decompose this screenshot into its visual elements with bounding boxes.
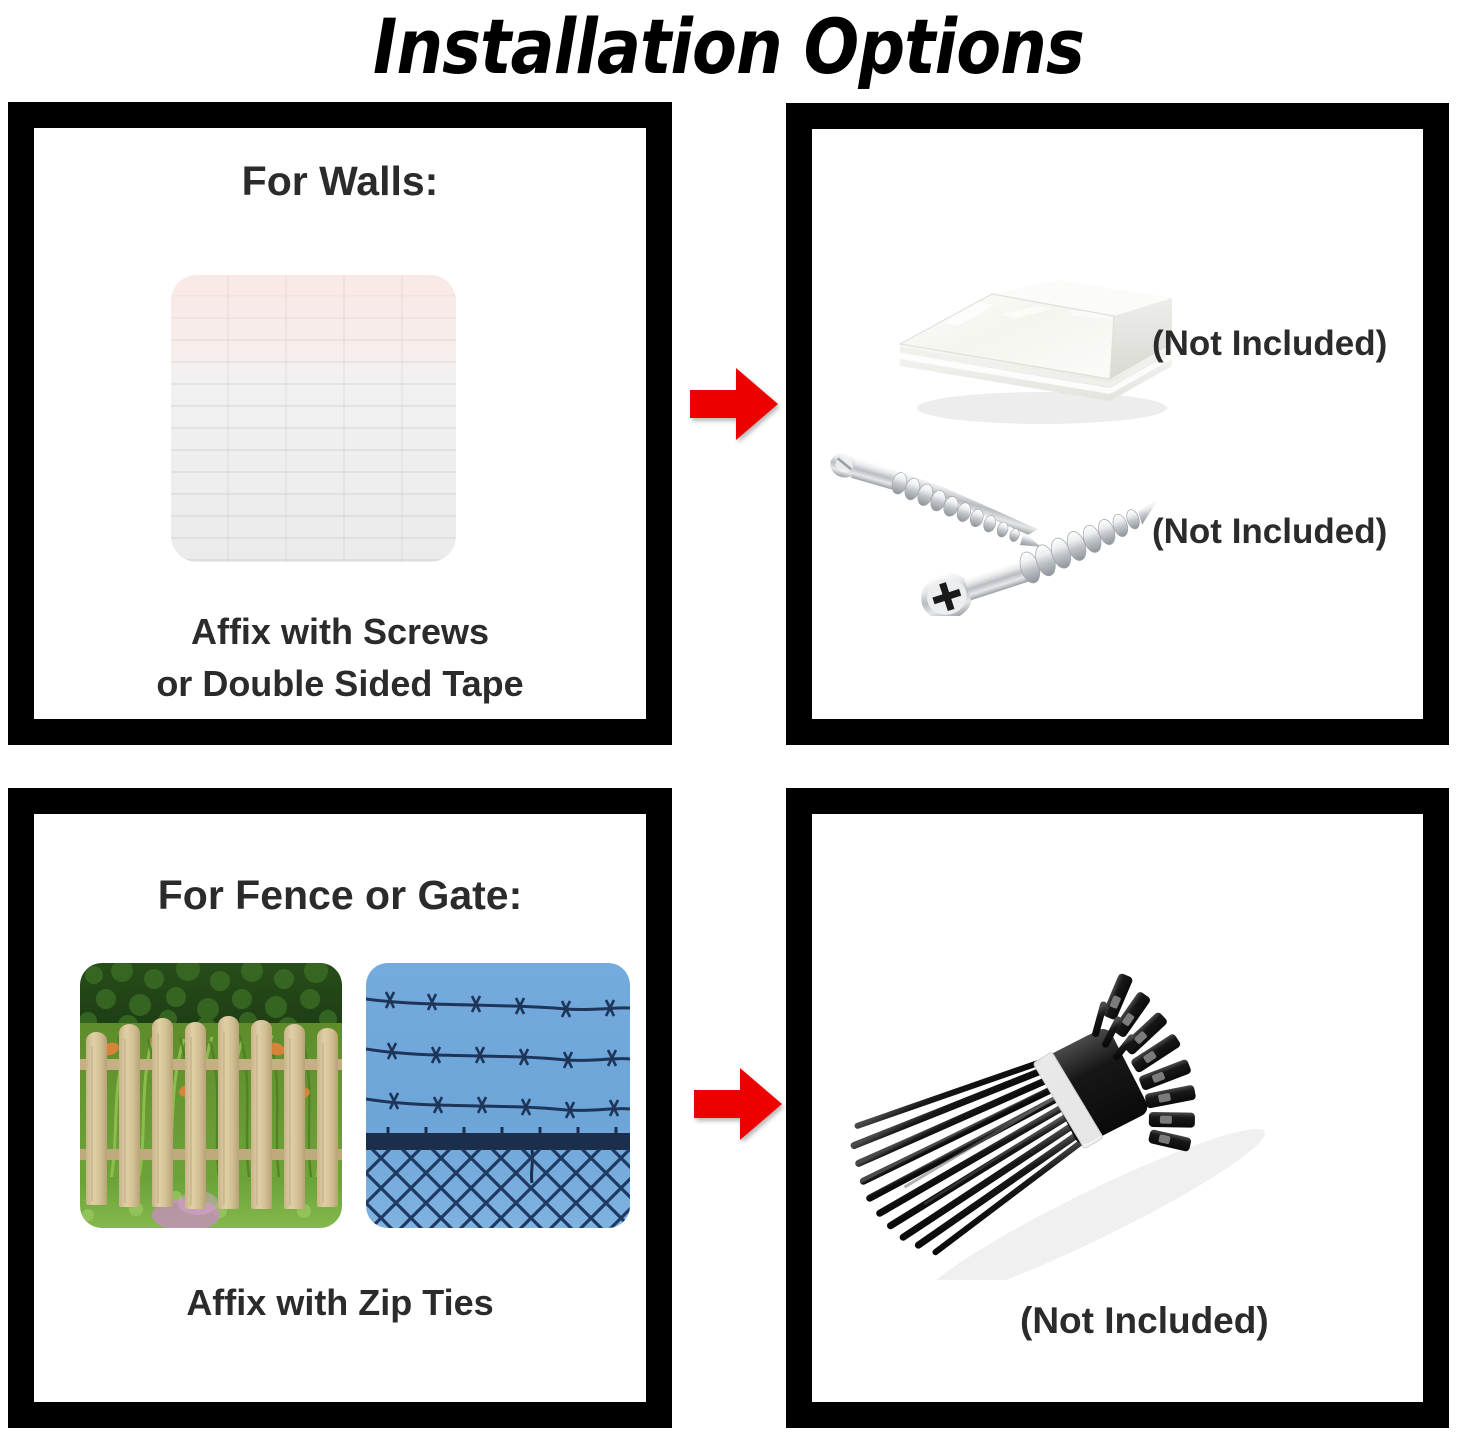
panel-for-walls-content: For Walls: Affix with Screws or Double S… xyxy=(34,128,646,719)
chain-link-fence-barbed-wire-photo xyxy=(366,963,630,1228)
brick-tint-overlay xyxy=(171,275,456,378)
black-zip-tie-bundle xyxy=(844,915,1314,1280)
panel-for-walls-caption-line1: Affix with Screws xyxy=(34,606,646,658)
zip-ties-not-included-note: (Not Included) xyxy=(1020,1300,1269,1342)
page-title: Installation Options xyxy=(102,0,1355,92)
panel-for-walls-caption-line2: or Double Sided Tape xyxy=(34,658,646,710)
panel-zip-ties: (Not Included) xyxy=(786,788,1449,1428)
panel-for-fence-heading: For Fence or Gate: xyxy=(34,872,646,919)
double-sided-tape-stack xyxy=(882,258,1177,428)
red-arrow-right-icon xyxy=(688,363,780,445)
panel-wall-hardware: (Not Included) xyxy=(786,103,1449,745)
wood-screws-pair xyxy=(828,436,1158,616)
wooden-picket-fence-photo xyxy=(80,963,342,1228)
panel-for-fence-or-gate: For Fence or Gate: xyxy=(8,788,672,1428)
panel-for-walls: For Walls: Affix with Screws or Double S… xyxy=(8,102,672,745)
tape-not-included-note: (Not Included) xyxy=(1152,324,1387,364)
panel-wall-hardware-content: (Not Included) xyxy=(812,129,1423,719)
white-brick-wall-swatch xyxy=(171,275,456,562)
red-arrow-right-icon-2 xyxy=(692,1063,784,1145)
panel-for-fence-or-gate-content: For Fence or Gate: xyxy=(34,814,646,1402)
panel-for-walls-heading: For Walls: xyxy=(34,158,646,205)
screws-not-included-note: (Not Included) xyxy=(1152,512,1387,552)
panel-for-fence-caption: Affix with Zip Ties xyxy=(34,1277,646,1329)
panel-zip-ties-content: (Not Included) xyxy=(812,814,1423,1402)
